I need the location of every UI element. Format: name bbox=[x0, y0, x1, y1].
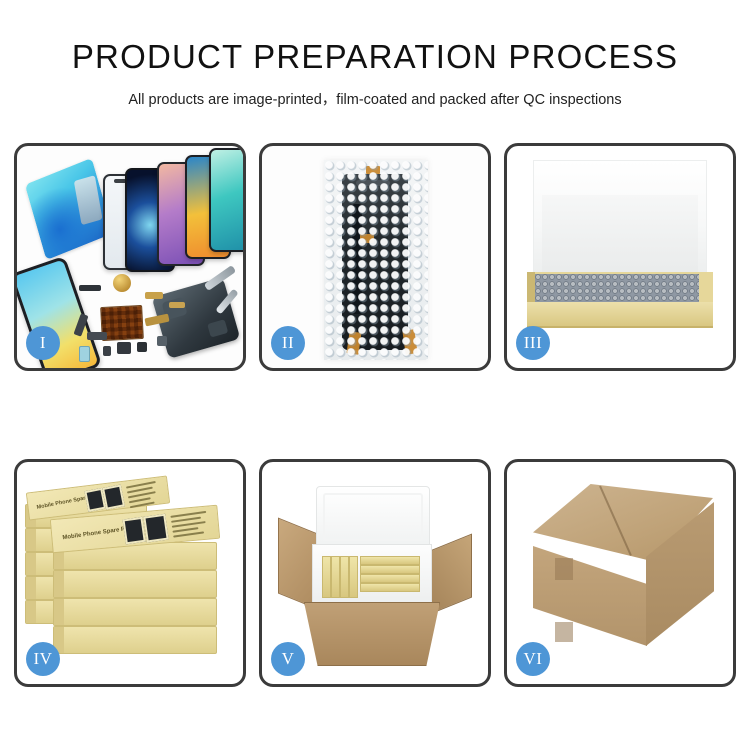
stacked-box bbox=[53, 598, 217, 626]
bubble-texture bbox=[324, 160, 428, 360]
styrofoam-lid-icon bbox=[316, 486, 430, 548]
step-panel-6: VI bbox=[504, 459, 736, 687]
step-panel-4: Mobile Phone Spare Parts bbox=[14, 459, 246, 687]
box-spec-lines bbox=[126, 481, 162, 512]
page-title: PRODUCT PREPARATION PROCESS bbox=[0, 38, 750, 76]
step-panel-2: II bbox=[259, 143, 491, 371]
carton-left-face-icon bbox=[533, 546, 647, 646]
part-icon bbox=[157, 336, 167, 346]
step-badge-1: I bbox=[26, 326, 60, 360]
part-icon bbox=[79, 285, 101, 291]
part-icon bbox=[79, 346, 90, 362]
adhesive-film-icon bbox=[25, 158, 113, 260]
process-step-grid: I II III bbox=[14, 143, 736, 688]
step-panel-1: I bbox=[14, 143, 246, 371]
part-icon bbox=[145, 292, 163, 299]
speaker-coil-icon bbox=[113, 274, 131, 292]
bubble-wrap-fill-icon bbox=[535, 274, 699, 302]
carton-body-icon bbox=[304, 602, 440, 666]
part-icon bbox=[137, 342, 147, 352]
step-badge-4: IV bbox=[26, 642, 60, 676]
box-stack: Mobile Phone Spare Parts bbox=[25, 478, 237, 674]
box-window-icon bbox=[102, 484, 125, 509]
part-icon bbox=[169, 302, 185, 308]
step-badge-5: V bbox=[271, 642, 305, 676]
part-icon bbox=[117, 342, 131, 354]
phone-display-teal-icon bbox=[209, 148, 243, 252]
step-badge-3: III bbox=[516, 326, 550, 360]
white-foam-sheet-icon bbox=[533, 160, 707, 278]
product-preparation-infographic: PRODUCT PREPARATION PROCESS All products… bbox=[0, 0, 750, 750]
step-panel-5: V bbox=[259, 459, 491, 687]
carton-tab-icon bbox=[555, 622, 573, 642]
header: PRODUCT PREPARATION PROCESS All products… bbox=[0, 0, 750, 109]
part-icon bbox=[87, 332, 107, 340]
box-window-icon bbox=[143, 514, 168, 543]
stacked-box bbox=[53, 626, 217, 654]
bubble-wrap-bag-icon bbox=[324, 160, 428, 360]
step-panel-3: III bbox=[504, 143, 736, 371]
stacked-box bbox=[53, 570, 217, 598]
part-icon bbox=[103, 346, 111, 356]
yellow-box-front-icon bbox=[527, 302, 713, 328]
carton-tab-icon bbox=[555, 558, 573, 580]
step-badge-2: II bbox=[271, 326, 305, 360]
step-badge-6: VI bbox=[516, 642, 550, 676]
box-window-icon bbox=[122, 517, 145, 545]
yellow-boxes-inside bbox=[320, 554, 422, 598]
box-spec-lines bbox=[170, 511, 211, 541]
page-subtitle: All products are image-printed，film-coat… bbox=[0, 88, 750, 109]
